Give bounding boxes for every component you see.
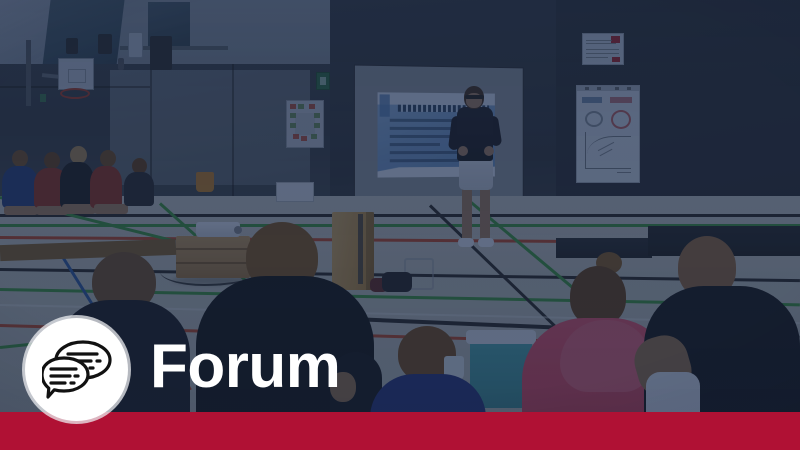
brand-bar [0,412,800,450]
speech-bubbles-icon [42,340,112,400]
forum-logo-badge [25,318,128,421]
page-title: Forum [150,336,340,398]
forum-banner-image: Forum [0,0,800,450]
